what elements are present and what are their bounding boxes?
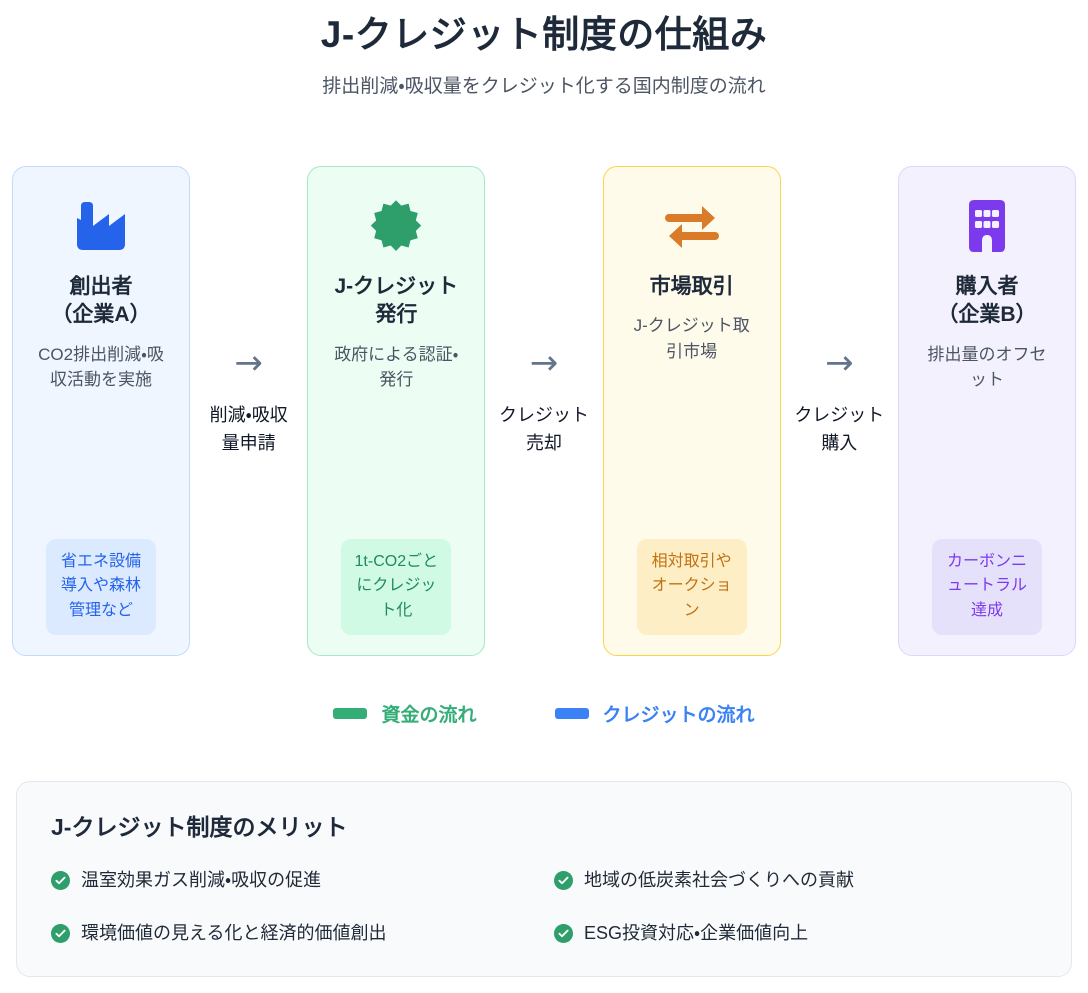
flow-diagram: 創出者 （企業A） CO2排出削減・吸収活動を実施 省エネ設備導入や森林管理など… — [12, 166, 1076, 656]
legend-label: クレジットの流れ — [603, 700, 755, 727]
card-title: J-クレジット発行 — [326, 273, 466, 330]
legend-swatch-icon — [333, 708, 367, 719]
benefits-list: 温室効果ガス削減・吸収の促進 地域の低炭素社会づくりへの貢献 環境価値の見える化… — [51, 868, 1037, 946]
list-item: ESG投資対応・企業価値向上 — [554, 921, 1037, 946]
card-description: 政府による認証・発行 — [332, 342, 460, 393]
flow-step-buyer[interactable]: 購入者 （企業B） 排出量のオフセット カーボンニュートラル達成 — [898, 166, 1076, 656]
exchange-arrows-icon — [664, 193, 720, 259]
flow-connector-3: → クレジット購入 — [781, 166, 898, 656]
legend: 資金の流れ クレジットの流れ — [0, 700, 1088, 727]
card-title-line2: （企業B） — [937, 301, 1036, 329]
benefit-text: ESG投資対応・企業価値向上 — [584, 921, 808, 946]
card-tag: カーボンニュートラル達成 — [932, 539, 1042, 635]
card-tag: 相対取引やオークション — [637, 539, 747, 635]
benefits-panel: J-クレジット制度のメリット 温室効果ガス削減・吸収の促進 地域の低炭素社会づく… — [16, 781, 1072, 977]
card-title: 創出者 （企業A） — [51, 273, 150, 330]
connector-label: 削減・吸収量申請 — [201, 402, 297, 458]
card-title-line1: 購入者 — [937, 273, 1036, 301]
check-circle-icon — [51, 871, 70, 890]
flow-connector-1: → 削減・吸収量申請 — [190, 166, 307, 656]
connector-label: クレジット売却 — [496, 402, 592, 458]
legend-item-funds: 資金の流れ — [333, 700, 476, 727]
card-description: J-クレジット取引市場 — [628, 313, 756, 364]
flow-step-market[interactable]: 市場取引 J-クレジット取引市場 相対取引やオークション — [603, 166, 781, 656]
check-circle-icon — [554, 924, 573, 943]
arrow-right-icon: → — [234, 346, 263, 380]
arrow-right-icon: → — [825, 346, 854, 380]
page-subtitle: 排出削減・吸収量をクレジット化する国内制度の流れ — [0, 74, 1088, 101]
card-tag: 1t-CO2ごとにクレジット化 — [341, 539, 451, 635]
card-description: 排出量のオフセット — [923, 342, 1051, 393]
list-item: 環境価値の見える化と経済的価値創出 — [51, 921, 534, 946]
list-item: 温室効果ガス削減・吸収の促進 — [51, 868, 534, 893]
certificate-seal-icon — [368, 193, 424, 259]
header: J-クレジット制度の仕組み 排出削減・吸収量をクレジット化する国内制度の流れ — [0, 0, 1088, 101]
arrow-right-icon: → — [530, 346, 559, 380]
connector-label: クレジット購入 — [791, 402, 887, 458]
flow-step-issuance[interactable]: J-クレジット発行 政府による認証・発行 1t-CO2ごとにクレジット化 — [307, 166, 485, 656]
office-building-icon — [963, 193, 1011, 259]
check-circle-icon — [554, 871, 573, 890]
legend-swatch-icon — [555, 708, 589, 719]
flow-step-creator[interactable]: 創出者 （企業A） CO2排出削減・吸収活動を実施 省エネ設備導入や森林管理など — [12, 166, 190, 656]
page-title: J-クレジット制度の仕組み — [0, 12, 1088, 58]
flow-connector-2: → クレジット売却 — [485, 166, 602, 656]
card-title: 購入者 （企業B） — [937, 273, 1036, 330]
card-title-line1: 創出者 — [51, 273, 150, 301]
benefit-text: 温室効果ガス削減・吸収の促進 — [81, 868, 321, 893]
benefits-title: J-クレジット制度のメリット — [51, 808, 1037, 842]
legend-item-credits: クレジットの流れ — [555, 700, 755, 727]
legend-label: 資金の流れ — [381, 700, 476, 727]
diagram-page: J-クレジット制度の仕組み 排出削減・吸収量をクレジット化する国内制度の流れ 創… — [0, 0, 1088, 993]
benefit-text: 環境価値の見える化と経済的価値創出 — [81, 921, 386, 946]
card-description: CO2排出削減・吸収活動を実施 — [37, 342, 165, 393]
card-title-line2: （企業A） — [51, 301, 150, 329]
card-tag: 省エネ設備導入や森林管理など — [46, 539, 156, 635]
benefit-text: 地域の低炭素社会づくりへの貢献 — [584, 868, 854, 893]
list-item: 地域の低炭素社会づくりへの貢献 — [554, 868, 1037, 893]
check-circle-icon — [51, 924, 70, 943]
card-title: 市場取引 — [650, 273, 734, 301]
factory-icon — [73, 193, 129, 259]
